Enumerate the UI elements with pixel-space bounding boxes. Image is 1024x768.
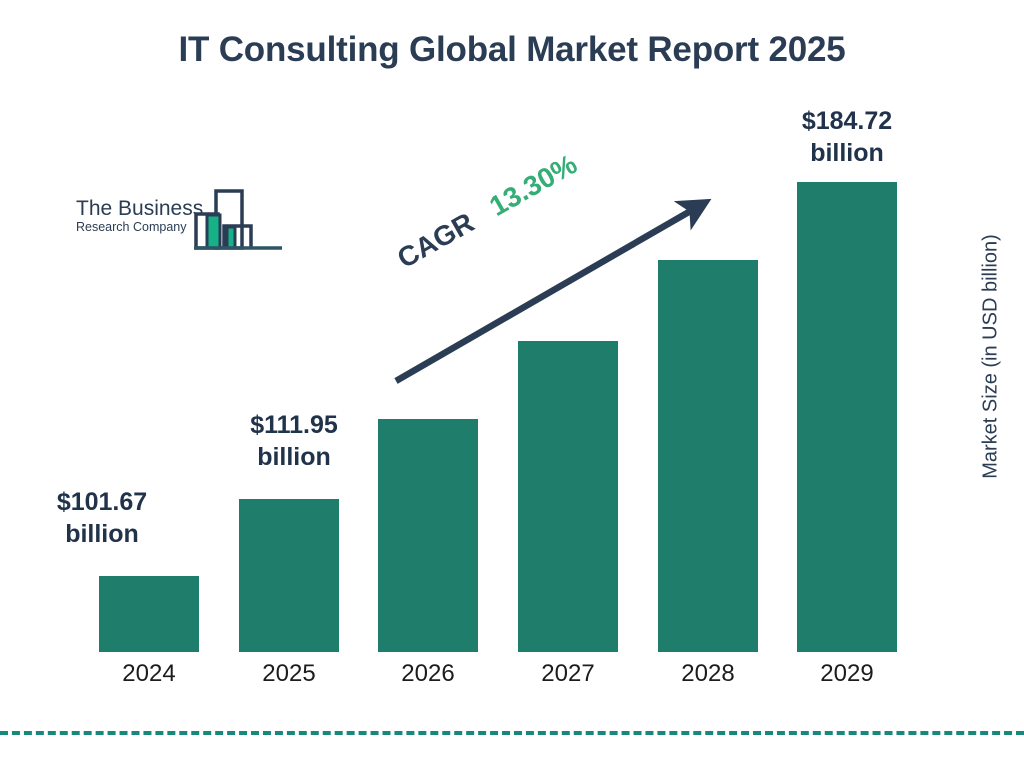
value-label-2025: $111.95 billion	[219, 409, 369, 473]
value-label-2029: $184.72 billion	[772, 105, 922, 169]
value-unit-2029: billion	[772, 137, 922, 169]
chart-page: IT Consulting Global Market Report 2025 …	[0, 0, 1024, 768]
value-unit-2024: billion	[27, 518, 177, 550]
cagr-value: 13.30%	[484, 148, 582, 222]
footer-divider	[0, 731, 1024, 735]
value-amount-2025: $111.95	[219, 409, 369, 441]
y-axis-label: Market Size (in USD billion)	[980, 212, 1003, 502]
xtick-2029: 2029	[787, 660, 907, 688]
bar-2028[interactable]	[658, 260, 758, 652]
value-amount-2029: $184.72	[772, 105, 922, 137]
xtick-2026: 2026	[368, 660, 488, 688]
xtick-2027: 2027	[508, 660, 628, 688]
value-amount-2024: $101.67	[27, 486, 177, 518]
bar-2026[interactable]	[378, 419, 478, 652]
bar-2027[interactable]	[518, 341, 618, 652]
bar-2025[interactable]	[239, 499, 339, 652]
xtick-2025: 2025	[229, 660, 349, 688]
value-unit-2025: billion	[219, 441, 369, 473]
xtick-2024: 2024	[89, 660, 209, 688]
cagr-annotation: CAGR 13.30%	[392, 148, 582, 275]
value-label-2024: $101.67 billion	[27, 486, 177, 550]
xtick-2028: 2028	[648, 660, 768, 688]
cagr-label: CAGR	[392, 206, 479, 274]
bar-2024[interactable]	[99, 576, 199, 652]
bar-chart-plot: $101.67 billion $111.95 billion $184.72 …	[0, 0, 1024, 768]
bar-2029[interactable]	[797, 182, 897, 652]
